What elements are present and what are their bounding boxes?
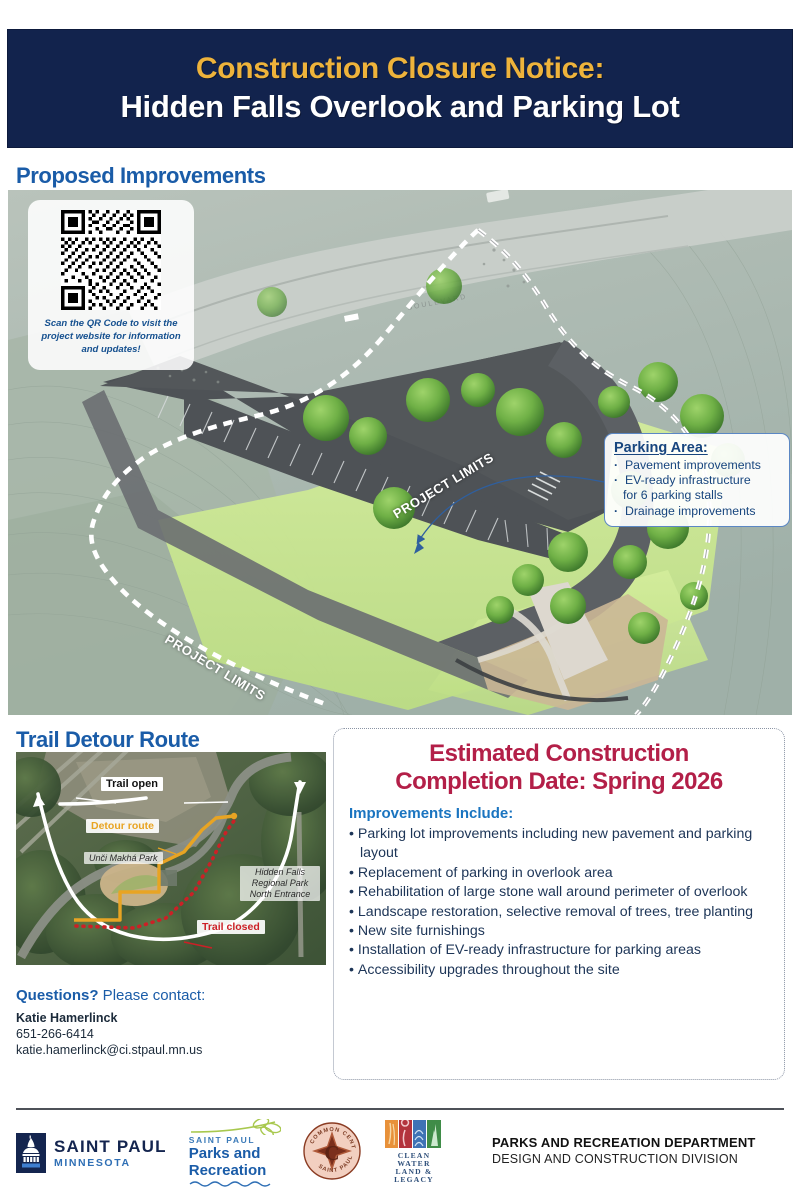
footer-logos: SAINT PAUL MINNESOTA SAINT PAUL Parks an… [16,1122,445,1184]
department-credit: PARKS AND RECREATION DEPARTMENT DESIGN A… [492,1135,756,1166]
header-title-line2: Hidden Falls Overlook and Parking Lot [120,89,679,125]
improvement-item: Replacement of parking in overlook area [349,864,769,883]
parks-rec-line3: Recreation [189,1162,281,1179]
contact-phone[interactable]: 651-266-6414 [16,1027,326,1041]
qr-code-card: Scan the QR Code to visit the project we… [28,200,194,370]
proposed-improvements-site-plan: BOULEVARD [8,190,792,715]
saint-paul-logo-line2: MINNESOTA [54,1157,167,1169]
common-cent-saint-paul-logo: C COMMON CENT SAINT PAUL [303,1122,361,1185]
callout-parking-item: for 6 parking stalls [614,488,780,503]
completion-title-line1: Estimated Construction [349,740,769,768]
qr-code-icon[interactable] [61,210,161,310]
saint-paul-parks-and-recreation-logo: SAINT PAUL Parks and Recreation [189,1119,281,1188]
improvements-subtitle: Improvements Include: [349,805,769,822]
parks-rec-line2: Parks and [189,1145,281,1162]
improvement-item: Rehabilitation of large stone wall aroun… [349,883,769,902]
section-title-proposed-improvements: Proposed Improvements [16,163,266,189]
completion-title: Estimated Construction Completion Date: … [349,740,769,796]
completion-title-line2: Completion Date: Spring 2026 [349,768,769,796]
improvement-item: Landscape restoration, selective removal… [349,903,769,922]
qr-caption: Scan the QR Code to visit the project we… [36,317,186,356]
callout-parking-item: Drainage improvements [614,504,780,519]
callout-parking-item: Pavement improvements [614,458,780,473]
detour-label-trail-closed: Trail closed [197,920,265,934]
improvements-list: Parking lot improvements including new p… [349,825,769,980]
department-name: PARKS AND RECREATION DEPARTMENT [492,1135,756,1150]
water-waves-icon [189,1179,281,1188]
detour-label-trail-open: Trail open [101,777,163,791]
callout-parking-item: EV-ready infrastructure [614,473,780,488]
detour-label-detour-route: Detour route [86,819,159,833]
questions-heading-bold: Questions? [16,987,99,1004]
questions-heading: Questions? Please contact: [16,987,326,1004]
common-cent-center-letter: C [324,1141,339,1165]
poster-header: Construction Closure Notice: Hidden Fall… [8,30,792,147]
callout-parking-list: Pavement improvements EV-ready infrastru… [614,458,780,519]
questions-heading-rest: Please contact: [99,987,206,1004]
detour-map-graphic [16,752,326,965]
division-name: DESIGN AND CONSTRUCTION DIVISION [492,1152,756,1166]
parks-rec-line1: SAINT PAUL [189,1135,281,1145]
detour-label-unci-makha-park: Unči Makhá Park [84,852,163,864]
header-title-line1: Construction Closure Notice: [196,52,604,86]
section-title-trail-detour-route: Trail Detour Route [16,727,200,753]
legacy-line-4: LEGACY [394,1175,434,1182]
callout-parking-title: Parking Area: [614,440,780,456]
callout-parking-area: Parking Area: Pavement improvements EV-r… [604,433,790,527]
clean-water-land-legacy-amendment-logo: CLEAN WATER LAND & LEGACY [383,1120,445,1187]
saint-paul-logo-line1: SAINT PAUL [54,1138,167,1155]
footer-divider [16,1108,784,1110]
poster-root: Construction Closure Notice: Hidden Fall… [0,0,800,1200]
contact-name: Katie Hamerlinck [16,1011,326,1025]
estimated-completion-panel: Estimated Construction Completion Date: … [333,728,785,1080]
improvement-item: Installation of EV-ready infrastructure … [349,941,769,960]
contact-email[interactable]: katie.hamerlinck@ci.stpaul.mn.us [16,1043,326,1057]
saint-paul-capitol-icon [16,1133,46,1173]
saint-paul-minnesota-logo: SAINT PAUL MINNESOTA [16,1133,167,1173]
improvement-item: Accessibility upgrades throughout the si… [349,961,769,980]
improvement-item: New site furnishings [349,922,769,941]
questions-contact-block: Questions? Please contact: Katie Hamerli… [16,987,326,1057]
trail-detour-route-map [16,752,326,965]
improvement-item: Parking lot improvements including new p… [349,825,769,864]
detour-label-hidden-falls-north-entrance: Hidden Falls Regional Park North Entranc… [240,866,320,901]
leaf-branch-icon [189,1119,281,1135]
